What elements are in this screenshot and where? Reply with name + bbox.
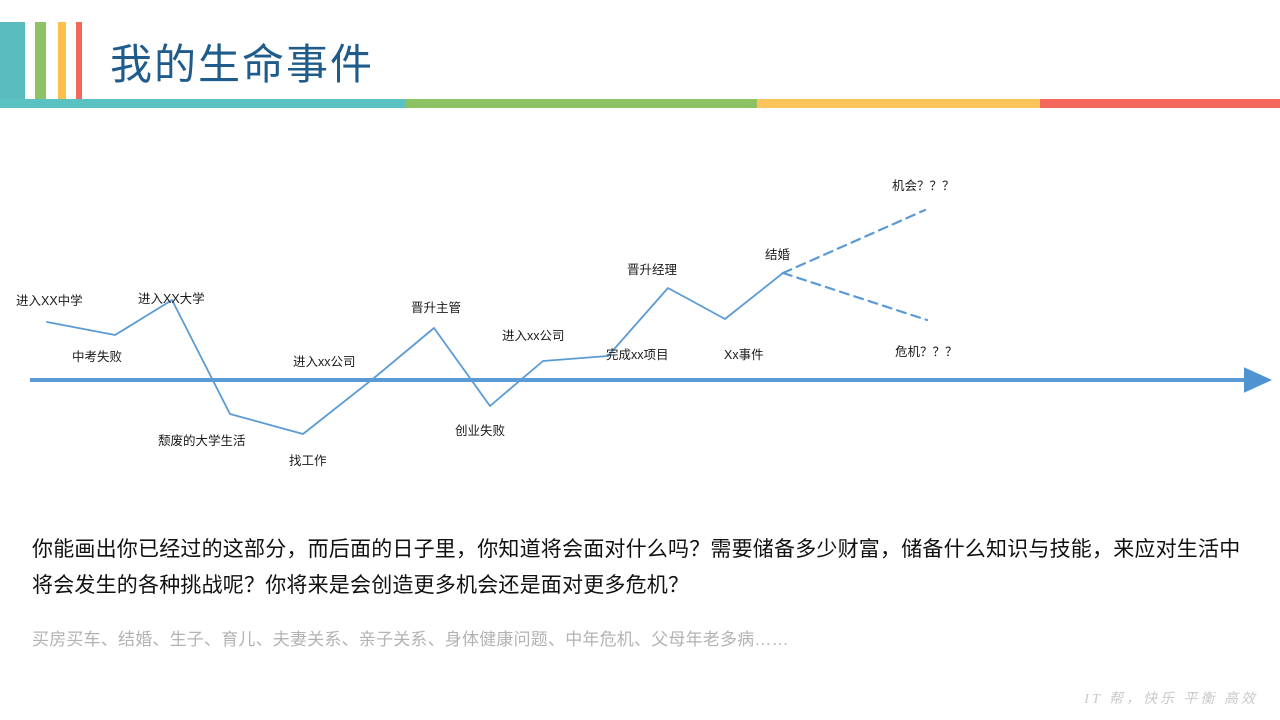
page-title: 我的生命事件 bbox=[110, 22, 374, 100]
header-rule-segment-green bbox=[405, 99, 757, 108]
event-label: 完成xx项目 bbox=[606, 349, 669, 362]
timeline-series-line-2 bbox=[783, 273, 927, 320]
event-label: 创业失败 bbox=[455, 425, 505, 438]
life-events-timeline-chart: 进入XX中学中考失败进入XX大学颓废的大学生活找工作进入xx公司晋升主管创业失败… bbox=[0, 112, 1280, 512]
header-rule-segment-gold bbox=[757, 99, 1040, 108]
event-label: 进入XX中学 bbox=[16, 295, 83, 308]
header-rule bbox=[0, 99, 1280, 108]
footer-brand: IT 帮，快乐 平衡 高效 bbox=[1084, 688, 1258, 708]
header-rule-segment-red bbox=[1040, 99, 1280, 108]
event-label: 进入xx公司 bbox=[502, 330, 565, 343]
event-label: 结婚 bbox=[765, 249, 790, 262]
event-label: Xx事件 bbox=[724, 349, 764, 362]
event-label: 颓废的大学生活 bbox=[158, 435, 246, 448]
header-accent-bar-teal bbox=[0, 22, 25, 100]
event-label: 危机？？？ bbox=[895, 346, 958, 359]
event-label: 晋升主管 bbox=[411, 302, 461, 315]
event-label: 进入xx公司 bbox=[293, 356, 356, 369]
body-paragraph: 你能画出你已经过的这部分，而后面的日子里，你知道将会面对什么吗？需要储备多少财富… bbox=[32, 532, 1254, 604]
header-accent-bar-green bbox=[35, 22, 46, 100]
header-accent-bar-gold bbox=[58, 22, 66, 100]
header-accent-bar-red bbox=[76, 22, 82, 100]
event-label: 找工作 bbox=[289, 455, 327, 468]
header-rule-segment-teal bbox=[0, 99, 405, 108]
event-label: 中考失败 bbox=[72, 351, 122, 364]
event-label: 进入XX大学 bbox=[138, 293, 205, 306]
timeline-svg bbox=[0, 112, 1280, 512]
body-subtext: 买房买车、结婚、生子、育儿、夫妻关系、亲子关系、身体健康问题、中年危机、父母年老… bbox=[32, 627, 1254, 653]
event-label: 机会？？？ bbox=[892, 180, 955, 193]
timeline-series-group bbox=[47, 210, 927, 434]
event-label: 晋升经理 bbox=[627, 264, 677, 277]
timeline-series-line-1 bbox=[783, 210, 925, 273]
slide-header: 我的生命事件 bbox=[0, 0, 1280, 112]
